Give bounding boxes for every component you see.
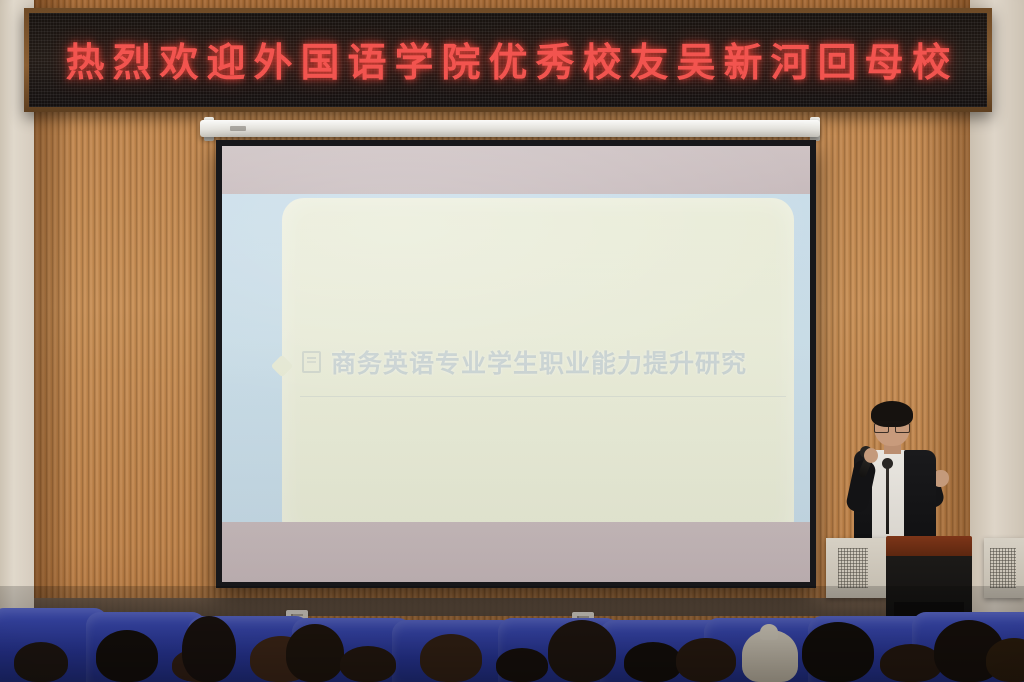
presenter-left-hand xyxy=(864,448,878,463)
audience-head xyxy=(548,620,616,682)
led-banner-text: 热烈欢迎外国语学院优秀校友吴新河回母校 xyxy=(57,32,958,88)
audience-head xyxy=(802,622,874,682)
audience-head xyxy=(286,624,344,682)
audience-head xyxy=(182,616,236,682)
audience-head xyxy=(676,638,736,682)
slide-band-top xyxy=(222,146,810,194)
speaker-grille-icon xyxy=(838,548,868,588)
slide-title: 商务英语专业学生职业能力提升研究 xyxy=(331,344,747,380)
audience-head xyxy=(96,630,158,682)
slide-band-bottom xyxy=(222,522,810,582)
audience-head xyxy=(624,642,682,682)
document-icon xyxy=(302,351,321,373)
led-welcome-banner: 热烈欢迎外国语学院优秀校友吴新河回母校 xyxy=(24,8,992,112)
seated-audience xyxy=(0,586,1024,682)
audience-head xyxy=(14,642,68,682)
speaker-grille-icon xyxy=(990,548,1016,588)
projection-screen-surface: 商务英语专业学生职业能力提升研究 xyxy=(222,146,810,582)
lectern-top xyxy=(886,536,972,556)
gooseneck-microphone-head-icon xyxy=(882,458,893,469)
led-panel: 热烈欢迎外国语学院优秀校友吴新河回母校 xyxy=(29,13,987,107)
projector-screen-roller xyxy=(200,120,820,137)
roller-brand-logo xyxy=(230,126,246,131)
gooseneck-microphone-icon xyxy=(886,464,889,534)
lecture-hall-photo: 热烈欢迎外国语学院优秀校友吴新河回母校 商务英语专业学生职业能力提升研究 xyxy=(0,0,1024,682)
projection-screen: 商务英语专业学生职业能力提升研究 xyxy=(216,140,816,588)
audience-head xyxy=(340,646,396,682)
audience-head xyxy=(496,648,548,682)
eyeglasses-icon xyxy=(874,421,910,431)
audience-head xyxy=(880,644,942,682)
cream-hat-crown xyxy=(760,624,778,640)
slide-title-row: 商务英语专业学生职业能力提升研究 xyxy=(302,340,790,384)
presenter xyxy=(848,404,956,544)
audience-head xyxy=(420,634,482,682)
slide-title-underline xyxy=(300,396,786,397)
